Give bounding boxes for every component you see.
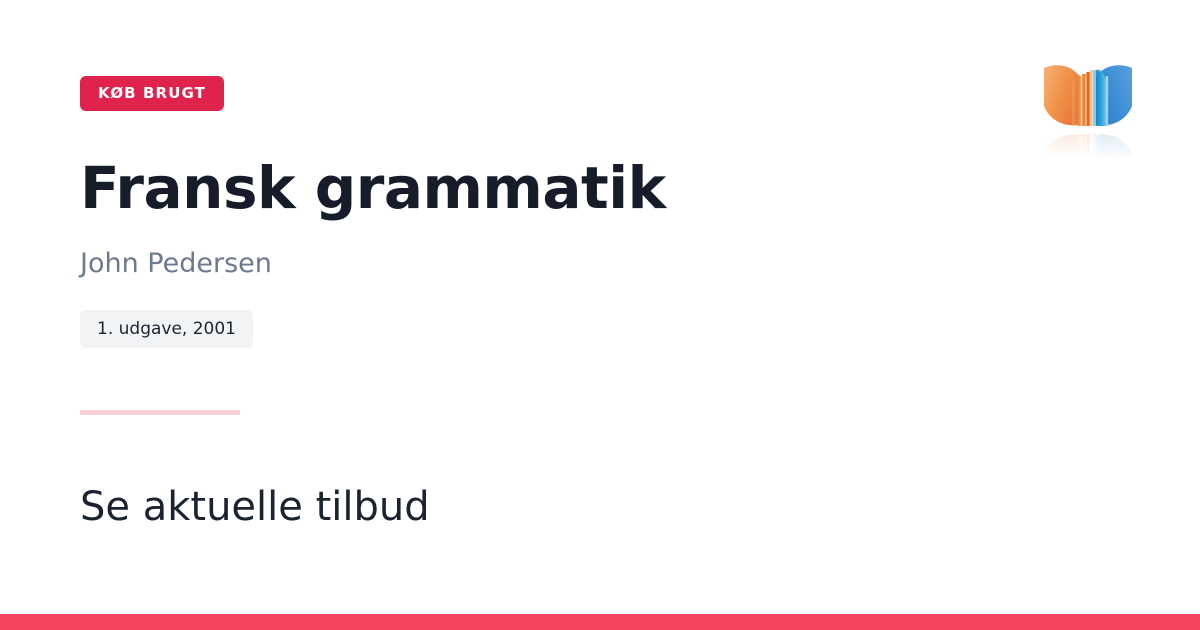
status-badge: KØB BRUGT bbox=[80, 76, 224, 111]
view-offers-link[interactable]: Se aktuelle tilbud bbox=[80, 483, 430, 531]
book-author: John Pedersen bbox=[80, 248, 272, 280]
section-divider bbox=[80, 410, 240, 415]
page-title: Fransk grammatik bbox=[80, 155, 666, 222]
butterfly-book-logo bbox=[1036, 52, 1140, 156]
bottom-accent-bar bbox=[0, 614, 1200, 630]
edition-chip: 1. udgave, 2001 bbox=[80, 310, 253, 348]
book-listing-card: KØB BRUGT Fransk grammatik John Pedersen… bbox=[0, 0, 1200, 630]
